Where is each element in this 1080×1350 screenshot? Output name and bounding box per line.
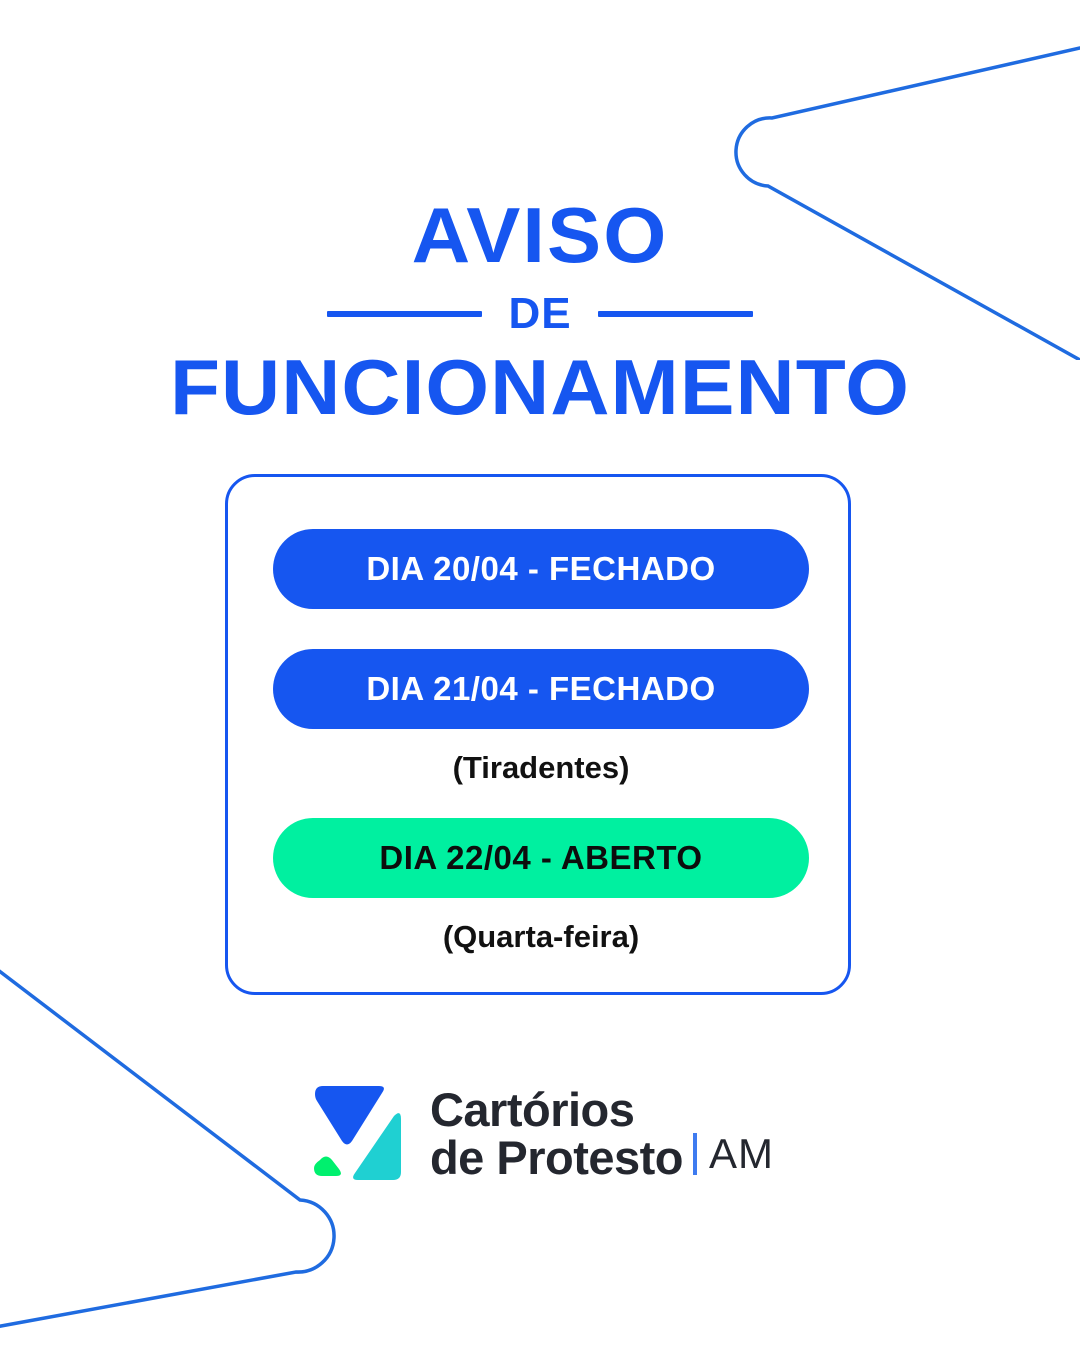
- title-de-row: DE: [0, 288, 1080, 340]
- notice-caption-day-3: (Quarta-feira): [228, 919, 854, 955]
- logo-state-suffix: AM: [709, 1130, 774, 1178]
- title-line-aviso: AVISO: [0, 196, 1080, 274]
- logo-wordmark: Cartórios de Protesto: [430, 1086, 683, 1182]
- notice-pill-day-3: DIA 22/04 - ABERTO: [273, 818, 809, 898]
- logo-text: Cartórios de Protesto AM: [430, 1086, 774, 1182]
- title-rule-left: [327, 311, 482, 317]
- page-title: AVISO DE FUNCIONAMENTO: [0, 196, 1080, 426]
- notice-pill-day-1: DIA 20/04 - FECHADO: [273, 529, 809, 609]
- logo-suffix-group: AM: [693, 1130, 774, 1182]
- title-rule-right: [598, 311, 753, 317]
- cartorios-de-protesto-logo-icon: [306, 1080, 408, 1188]
- title-line-funcionamento: FUNCIONAMENTO: [0, 348, 1080, 426]
- notice-card: DIA 20/04 - FECHADO DIA 21/04 - FECHADO …: [225, 474, 851, 995]
- title-word-de: DE: [504, 292, 575, 336]
- logo-divider: [693, 1133, 697, 1175]
- logo-line-2: de Protesto: [430, 1134, 683, 1182]
- logo-line-1: Cartórios: [430, 1086, 683, 1134]
- brand-logo: Cartórios de Protesto AM: [0, 1080, 1080, 1188]
- poster-canvas: AVISO DE FUNCIONAMENTO DIA 20/04 - FECHA…: [0, 0, 1080, 1350]
- notice-caption-day-2: (Tiradentes): [228, 750, 854, 786]
- notice-pill-day-2: DIA 21/04 - FECHADO: [273, 649, 809, 729]
